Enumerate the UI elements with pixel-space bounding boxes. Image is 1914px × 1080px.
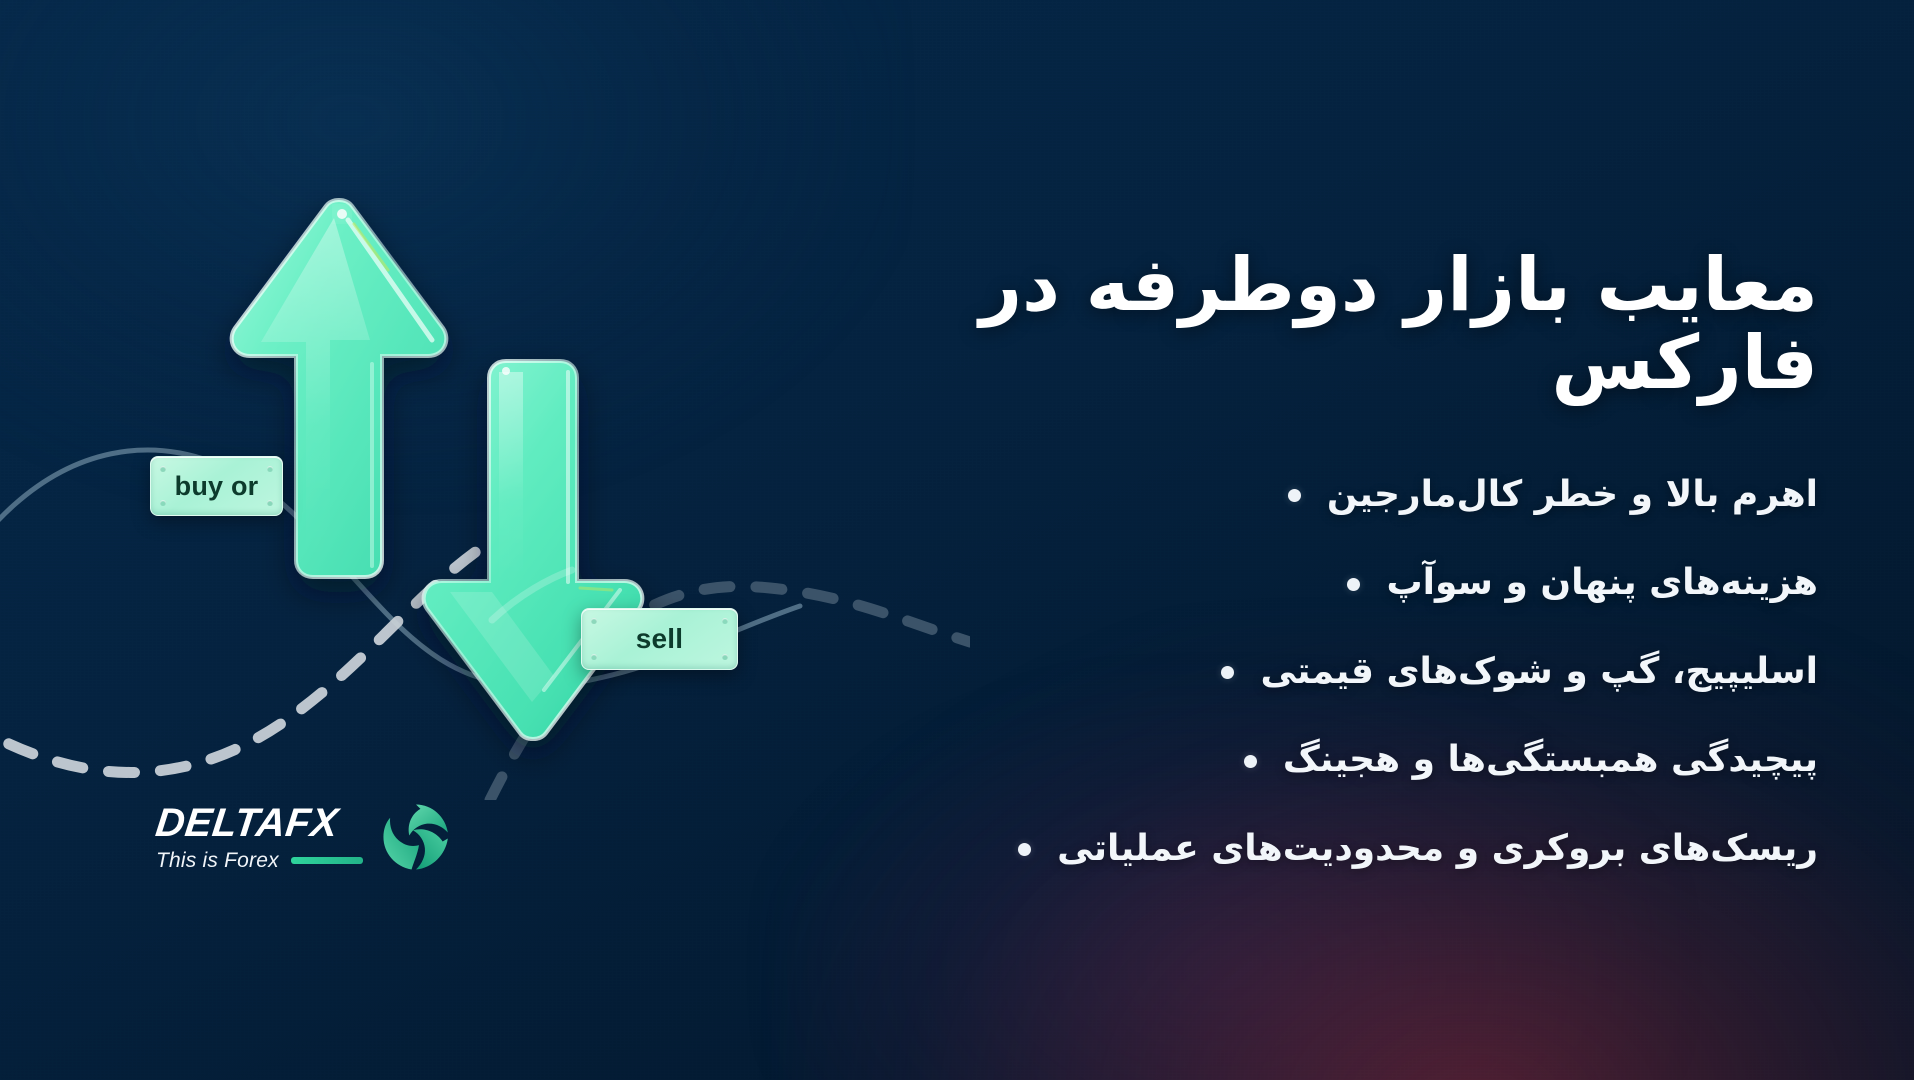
list-item: اسلیپیج، گپ و شوک‌های قیمتی bbox=[868, 648, 1818, 696]
background-glow-top-left bbox=[0, 0, 900, 500]
brand-logo[interactable]: DELTAFX This is Forex bbox=[156, 800, 453, 874]
bullet-dot-icon bbox=[1347, 578, 1360, 591]
list-item: ریسک‌های بروکری و محدودیت‌های عملیاتی bbox=[868, 825, 1818, 873]
list-item-label: اهرم بالا و خطر کال‌مارجین bbox=[1327, 471, 1818, 519]
buy-label-plate[interactable]: buy or bbox=[150, 456, 283, 516]
list-item: اهرم بالا و خطر کال‌مارجین bbox=[868, 471, 1818, 519]
deltafx-swirl-icon bbox=[379, 800, 453, 874]
list-item-label: هزینه‌های پنهان و سوآپ bbox=[1386, 559, 1818, 607]
logo-tagline: This is Forex bbox=[156, 850, 279, 871]
logo-tagline-row: This is Forex bbox=[156, 850, 363, 871]
sell-label-text: sell bbox=[636, 623, 684, 655]
list-item: پیچیدگی همبستگی‌ها و هجینگ bbox=[868, 736, 1818, 784]
plate-screw-bottom-left-icon bbox=[160, 500, 166, 506]
bullet-dot-icon bbox=[1018, 843, 1031, 856]
logo-accent-rule bbox=[291, 857, 363, 864]
sell-label-plate[interactable]: sell bbox=[581, 608, 738, 670]
bullet-dot-icon bbox=[1221, 666, 1234, 679]
plate-screw-top-right-icon bbox=[267, 466, 273, 472]
logo-wordmark: DELTAFX bbox=[154, 803, 366, 843]
page-title: معایب بازار دوطرفه در فارکس bbox=[868, 246, 1818, 403]
copy-column: معایب بازار دوطرفه در فارکس اهرم بالا و … bbox=[868, 246, 1818, 913]
bullet-dot-icon bbox=[1244, 755, 1257, 768]
buy-label-text: buy or bbox=[175, 471, 259, 502]
list-item-label: پیچیدگی همبستگی‌ها و هجینگ bbox=[1283, 736, 1818, 784]
logo-text-block: DELTAFX This is Forex bbox=[156, 803, 363, 871]
list-item-label: اسلیپیج، گپ و شوک‌های قیمتی bbox=[1260, 648, 1818, 696]
plate-screw-bottom-left-icon bbox=[591, 654, 597, 660]
list-item-label: ریسک‌های بروکری و محدودیت‌های عملیاتی bbox=[1057, 825, 1818, 873]
list-item: هزینه‌های پنهان و سوآپ bbox=[868, 559, 1818, 607]
bullet-dot-icon bbox=[1288, 489, 1301, 502]
slide-canvas: buy or sell معایب بازار دوطرفه در فارکس … bbox=[0, 0, 1914, 1080]
plate-screw-top-right-icon bbox=[722, 618, 728, 624]
disadvantages-list: اهرم بالا و خطر کال‌مارجین هزینه‌های پنه… bbox=[868, 471, 1818, 873]
